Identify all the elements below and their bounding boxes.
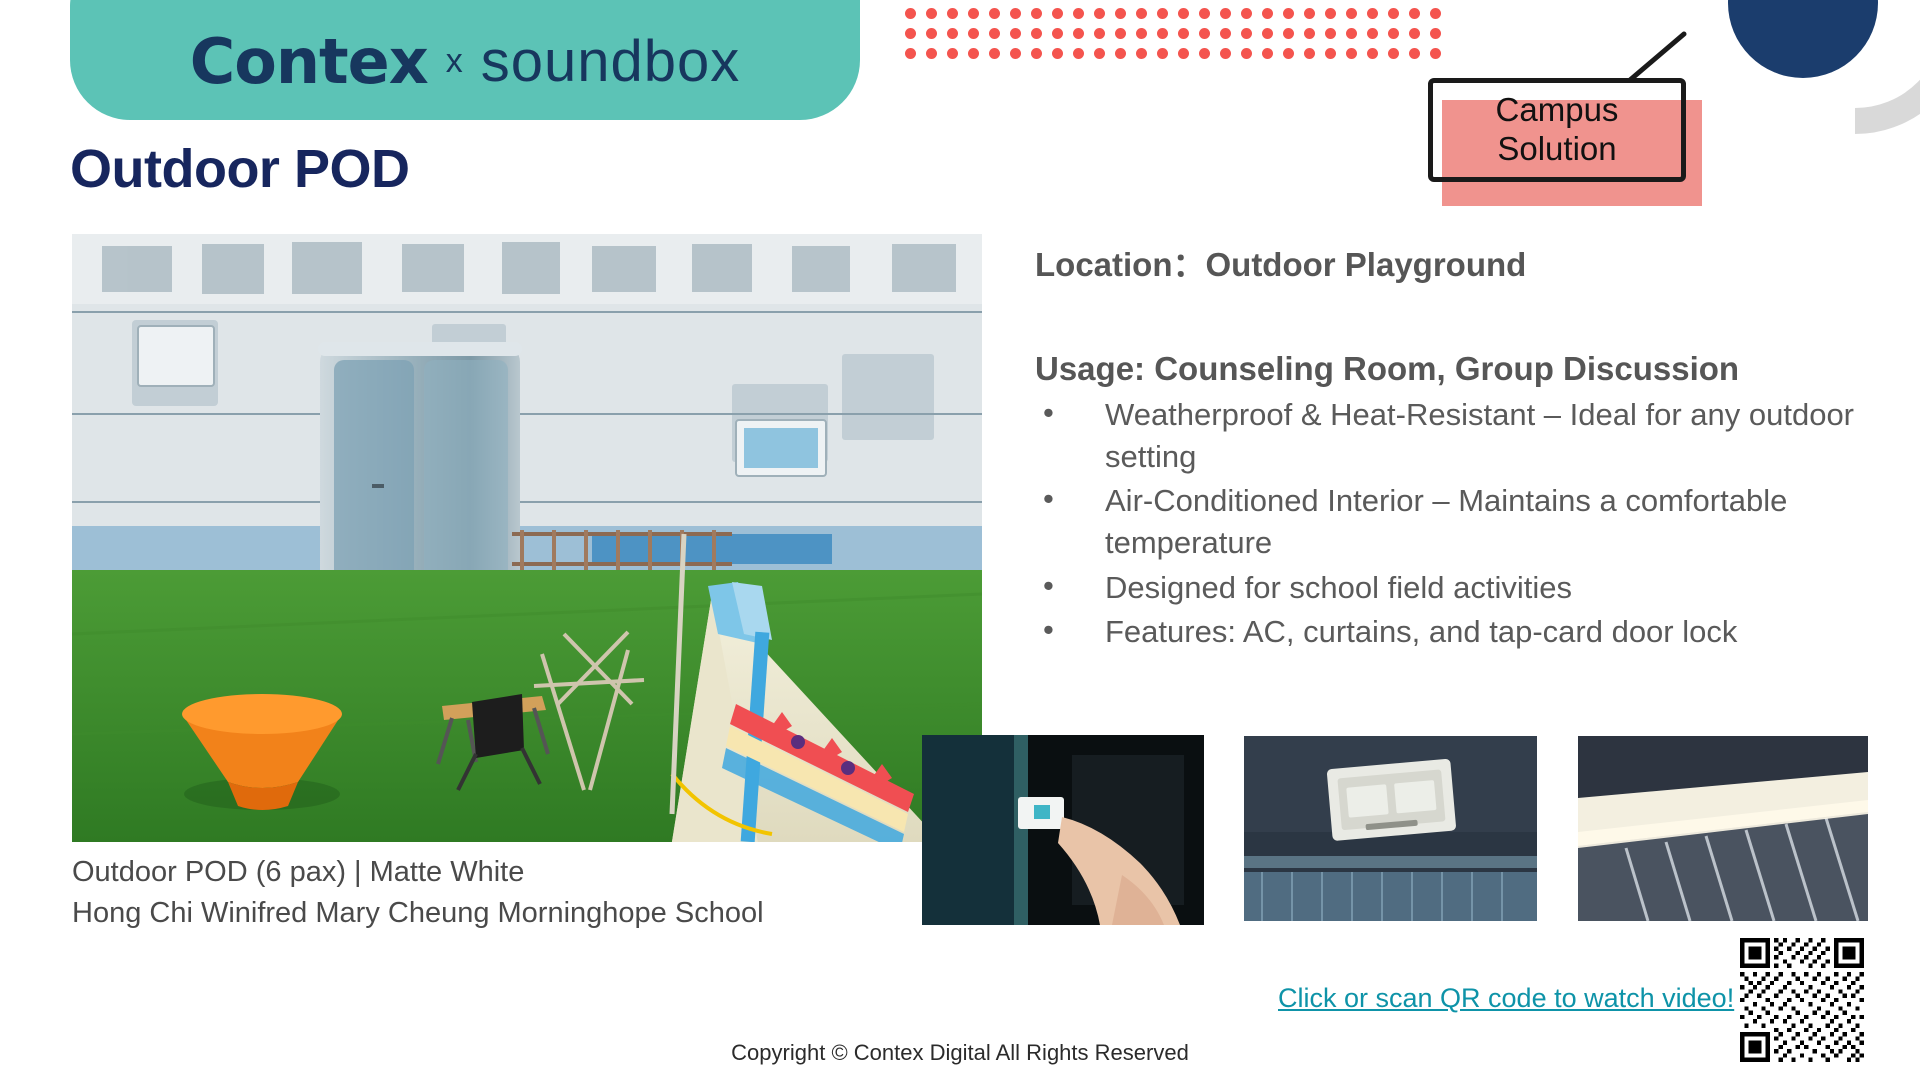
dot [1052, 28, 1063, 39]
brand-contex-logo: Contex [190, 25, 428, 98]
dot [1136, 48, 1147, 59]
dot [1367, 8, 1378, 19]
caption-line-2: Hong Chi Winifred Mary Cheung Morninghop… [72, 893, 972, 934]
dot [1325, 28, 1336, 39]
dot [989, 8, 1000, 19]
dot [989, 28, 1000, 39]
badge-pointer-tail [1626, 30, 1696, 82]
dot [1304, 48, 1315, 59]
dot [1241, 28, 1252, 39]
slide-root: Contex x soundbox Outdoor POD Campus Sol… [0, 0, 1920, 1080]
dot [1409, 8, 1420, 19]
dot [1073, 48, 1084, 59]
dot [1388, 8, 1399, 19]
dot [1241, 8, 1252, 19]
brand-separator-x: x [446, 42, 463, 81]
dot [1325, 48, 1336, 59]
dot [1052, 48, 1063, 59]
badge-text: Campus Solution [1428, 78, 1686, 182]
dot [1304, 8, 1315, 19]
feature-bullet: Weatherproof & Heat-Resistant – Ideal fo… [1035, 394, 1905, 478]
thumbnail-strip [922, 735, 1652, 925]
dot [1136, 8, 1147, 19]
dot [1346, 8, 1357, 19]
dot [1010, 28, 1021, 39]
dot [1241, 48, 1252, 59]
thumbnail-interior-ceiling [1578, 736, 1868, 921]
dot [1010, 8, 1021, 19]
dot [968, 28, 979, 39]
dot [1388, 28, 1399, 39]
dot [1115, 8, 1126, 19]
dot [1283, 28, 1294, 39]
thumbnail-card-reader [922, 735, 1204, 925]
badge-line-1: Campus [1496, 91, 1619, 130]
dot [1220, 48, 1231, 59]
dot [1346, 28, 1357, 39]
dot [1052, 8, 1063, 19]
brand-lockup: Contex x soundbox [190, 25, 740, 98]
dot [1220, 28, 1231, 39]
dot [1283, 8, 1294, 19]
dot [1157, 28, 1168, 39]
dot [1199, 28, 1210, 39]
dot [1157, 48, 1168, 59]
dot [1430, 8, 1441, 19]
dot [1283, 48, 1294, 59]
dot [1031, 8, 1042, 19]
dot [905, 28, 916, 39]
dot [1367, 48, 1378, 59]
feature-bullet: Air-Conditioned Interior – Maintains a c… [1035, 480, 1905, 564]
feature-bullet-list: Weatherproof & Heat-Resistant – Ideal fo… [1035, 394, 1905, 653]
dot [1430, 28, 1441, 39]
dot [1346, 48, 1357, 59]
dot [1220, 8, 1231, 19]
dot [1073, 8, 1084, 19]
dot [1409, 28, 1420, 39]
dot [968, 48, 979, 59]
dot [1325, 8, 1336, 19]
dot [1262, 28, 1273, 39]
dot [1367, 28, 1378, 39]
dot [1178, 8, 1189, 19]
feature-bullet: Designed for school field activities [1035, 567, 1905, 609]
photo-caption: Outdoor POD (6 pax) | Matte White Hong C… [72, 852, 972, 934]
dot [1094, 28, 1105, 39]
dot [1262, 48, 1273, 59]
footer-copyright: Copyright © Contex Digital All Rights Re… [0, 1040, 1920, 1066]
dot [1136, 28, 1147, 39]
dot [1262, 8, 1273, 19]
dot [989, 48, 1000, 59]
dot [1031, 28, 1042, 39]
dot [1094, 48, 1105, 59]
dot [1409, 48, 1420, 59]
badge-line-2: Solution [1497, 130, 1616, 169]
dot [947, 8, 958, 19]
dot [926, 8, 937, 19]
main-product-photo [72, 234, 982, 842]
feature-bullet: Features: AC, curtains, and tap-card doo… [1035, 611, 1905, 653]
details-panel: Location：Outdoor Playground Usage: Couns… [1035, 238, 1905, 655]
dot [1073, 28, 1084, 39]
dot [1430, 48, 1441, 59]
dot [1199, 8, 1210, 19]
brand-tab: Contex x soundbox [70, 0, 860, 120]
page-title: Outdoor POD [70, 138, 409, 200]
thumbnail-ac-panel [1244, 736, 1537, 921]
dot [905, 8, 916, 19]
dot [1115, 48, 1126, 59]
dot [905, 48, 916, 59]
dot-grid-decoration [905, 8, 1450, 60]
dot [1178, 48, 1189, 59]
dot [1115, 28, 1126, 39]
dot [1304, 28, 1315, 39]
dot [926, 28, 937, 39]
dot [1199, 48, 1210, 59]
dot [968, 8, 979, 19]
dot [1388, 48, 1399, 59]
dot [1031, 48, 1042, 59]
location-line: Location：Outdoor Playground [1035, 238, 1905, 286]
dot [947, 48, 958, 59]
dot [947, 28, 958, 39]
main-photo-illustration [72, 234, 982, 842]
dot [1178, 28, 1189, 39]
usage-heading: Usage: Counseling Room, Group Discussion [1035, 350, 1905, 388]
dot [926, 48, 937, 59]
dot [1094, 8, 1105, 19]
dot [1157, 8, 1168, 19]
caption-line-1: Outdoor POD (6 pax) | Matte White [72, 852, 972, 893]
dot [1010, 48, 1021, 59]
brand-soundbox-logo: soundbox [481, 28, 741, 95]
campus-solution-badge: Campus Solution [1428, 78, 1703, 206]
watch-video-link[interactable]: Click or scan QR code to watch video! [1278, 983, 1734, 1014]
